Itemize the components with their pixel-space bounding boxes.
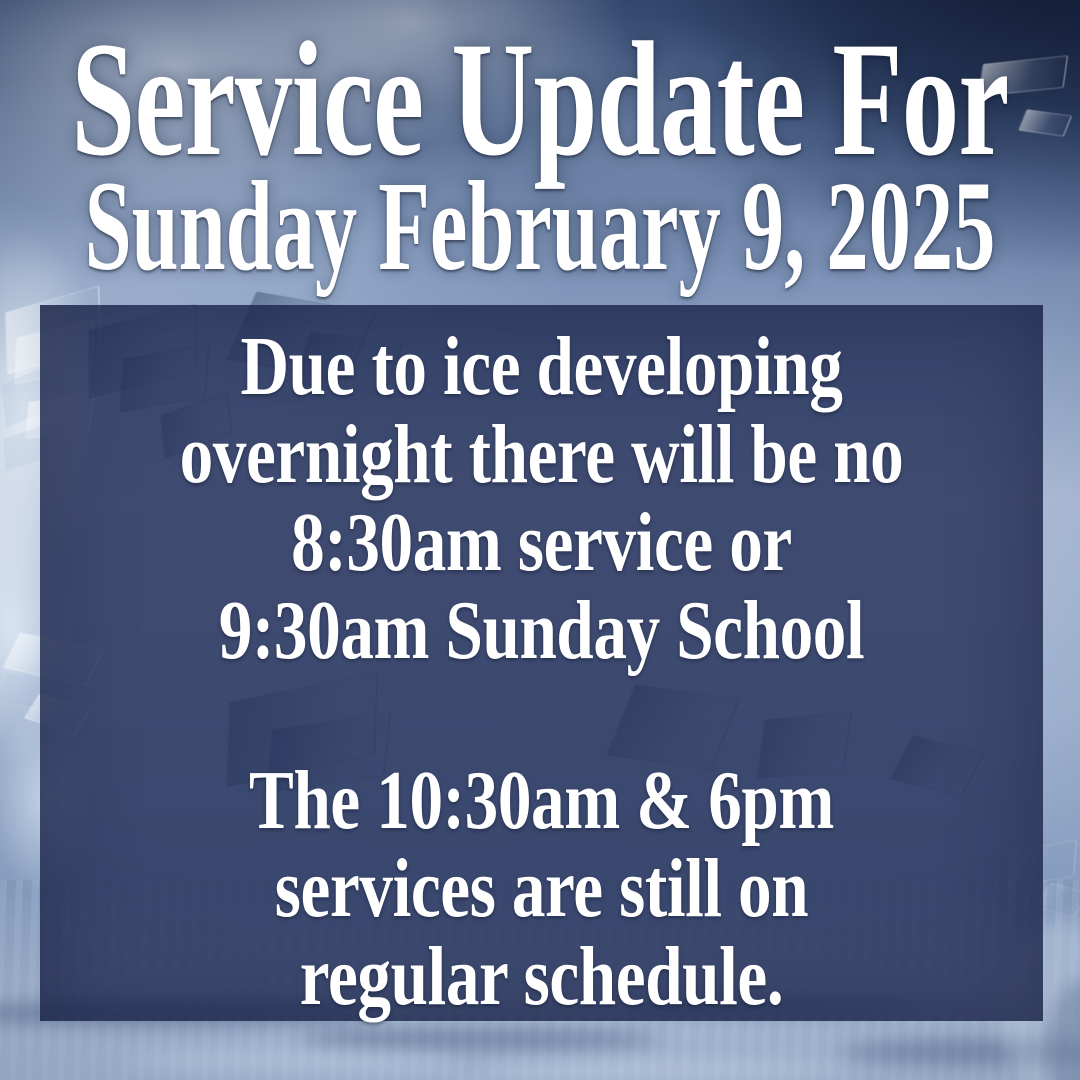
message-line: overnight there will be no (140, 411, 942, 499)
message-line: 9:30am Sunday School (140, 587, 942, 675)
ice-shard (978, 55, 1068, 97)
frost-streak (840, 1040, 1080, 1064)
message-line: services are still on (140, 845, 942, 933)
message-line: regular schedule. (140, 933, 942, 1021)
frost-streak (120, 1052, 460, 1070)
message-panel-content: Due to ice developingovernight there wil… (40, 305, 1043, 1021)
message-line: Due to ice developing (140, 323, 942, 411)
frost-streak (300, 1028, 660, 1050)
page-title: Service Update For (71, 18, 1008, 182)
frost-streak (480, 1062, 860, 1078)
announcement-graphic: Service Update For Sunday February 9, 20… (0, 0, 1080, 1080)
message-line: The 10:30am & 6pm (140, 757, 942, 845)
page-subtitle: Sunday February 9, 2025 (85, 162, 996, 290)
message-paragraph: Due to ice developingovernight there wil… (40, 323, 1043, 675)
message-line: 8:30am service or (140, 499, 942, 587)
ice-shard (1018, 109, 1072, 136)
message-paragraph: The 10:30am & 6pmservices are still onre… (40, 757, 1043, 1021)
message-panel: Due to ice developingovernight there wil… (40, 305, 1043, 1021)
frost-streak (1046, 980, 1080, 1080)
